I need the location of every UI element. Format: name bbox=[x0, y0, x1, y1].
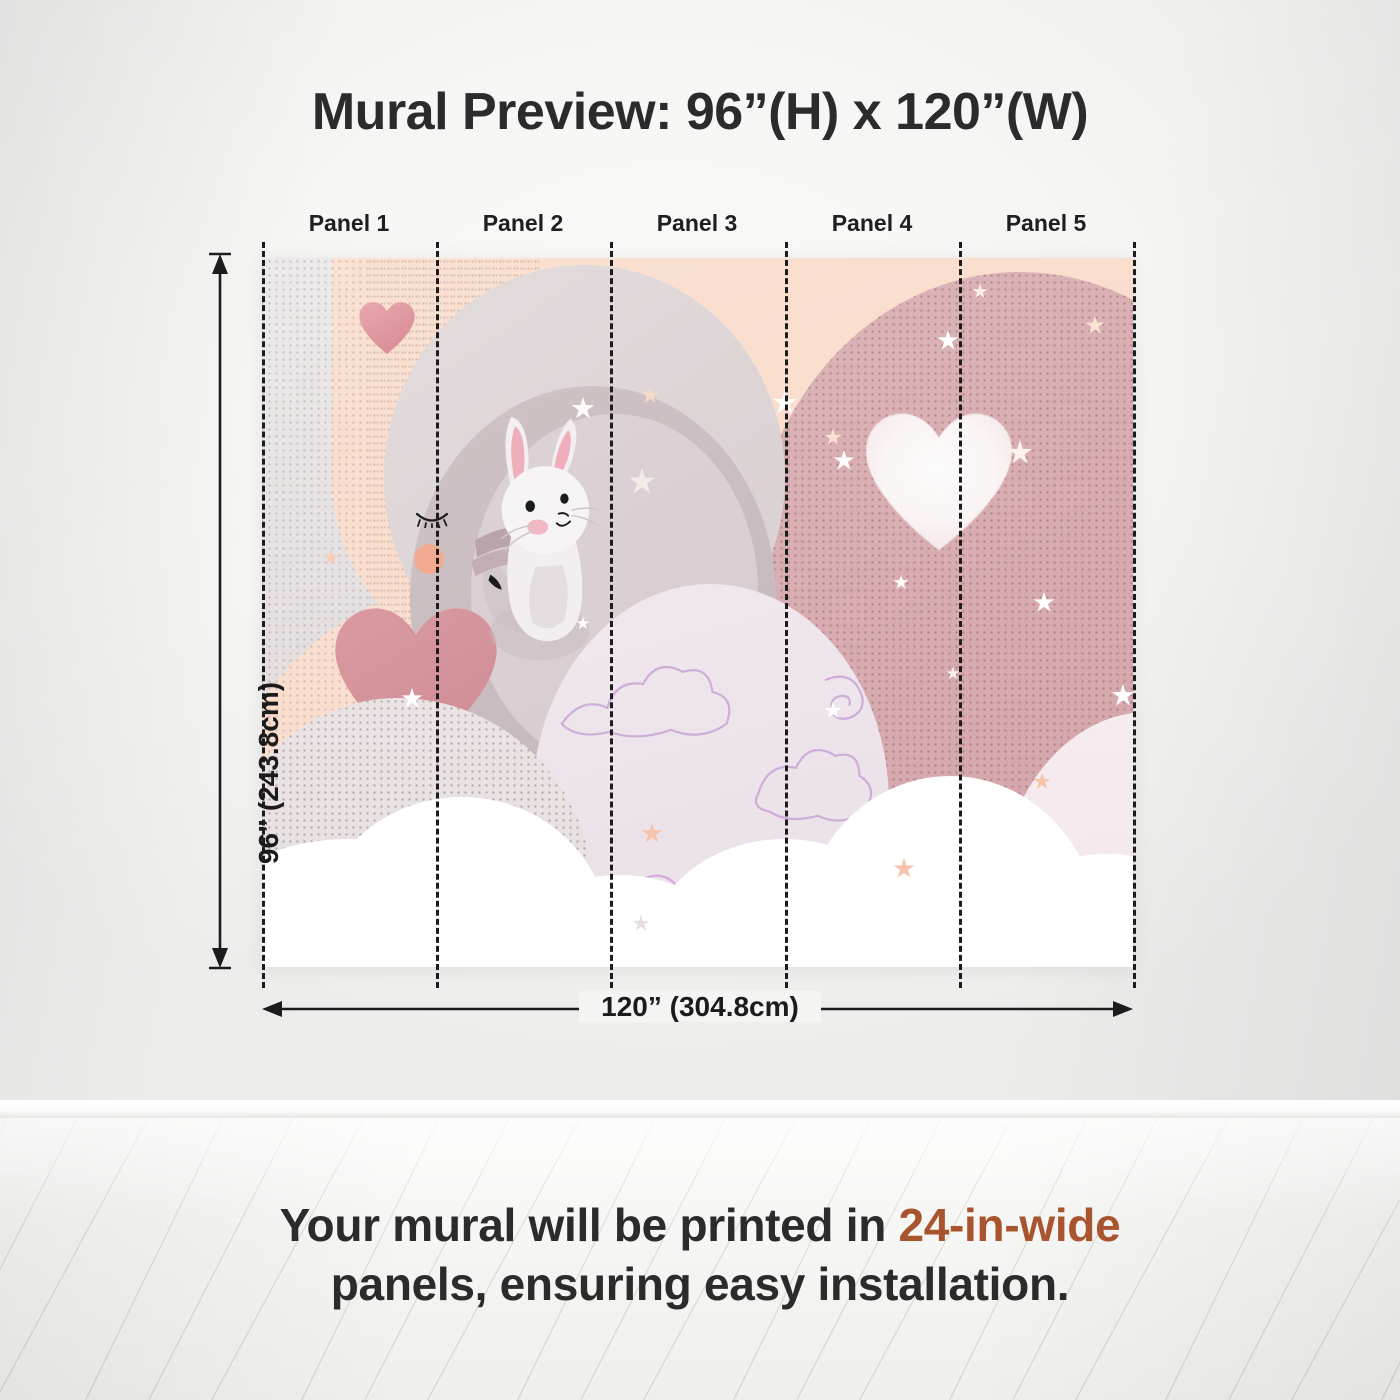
panel-divider-2 bbox=[610, 242, 613, 988]
artwork-star bbox=[571, 396, 595, 420]
artwork-star bbox=[1033, 772, 1051, 790]
panel-divider-3 bbox=[785, 242, 788, 988]
artwork-star bbox=[893, 574, 909, 590]
mural-preview-frame: Panel 1 Panel 2 Panel 3 Panel 4 Panel 5 bbox=[262, 258, 1133, 967]
artwork-star bbox=[576, 616, 590, 630]
artwork-star bbox=[972, 283, 988, 299]
artwork-pink-heart-small bbox=[358, 301, 416, 355]
panel-divider-4 bbox=[959, 242, 962, 988]
panel-divider-1 bbox=[436, 242, 439, 988]
artwork-star bbox=[893, 857, 915, 879]
width-dimension-text: 120” (304.8cm) bbox=[579, 991, 821, 1022]
artwork-star bbox=[1007, 439, 1033, 465]
caption: Your mural will be printed in 24-in-wide… bbox=[0, 1196, 1400, 1314]
artwork-star bbox=[1033, 591, 1055, 613]
artwork-star bbox=[641, 386, 659, 404]
height-dimension-label: 96” (243.8cm) bbox=[253, 623, 285, 923]
panel-label-2: Panel 2 bbox=[436, 210, 610, 237]
panel-label-1: Panel 1 bbox=[262, 210, 436, 237]
artwork-star bbox=[632, 914, 650, 932]
artwork-star bbox=[824, 701, 842, 719]
panel-divider-5 bbox=[1133, 242, 1136, 988]
artwork-white-heart bbox=[863, 410, 1015, 554]
artwork-star bbox=[824, 428, 842, 446]
artwork-moon-closed-eye bbox=[415, 510, 443, 526]
artwork-star bbox=[833, 449, 855, 471]
baseboard bbox=[0, 1100, 1400, 1118]
artwork-star bbox=[1111, 683, 1133, 707]
artwork-star bbox=[323, 549, 339, 565]
width-dimension-label: 120” (304.8cm) bbox=[0, 991, 1400, 1023]
panel-label-4: Panel 4 bbox=[785, 210, 959, 237]
caption-line2: panels, ensuring easy installation. bbox=[331, 1258, 1070, 1310]
mural-artwork bbox=[262, 258, 1133, 967]
artwork-star bbox=[401, 687, 423, 709]
caption-highlight: 24-in-wide bbox=[898, 1199, 1120, 1251]
page-title: Mural Preview: 96”(H) x 120”(W) bbox=[0, 82, 1400, 142]
artwork-moon-blush bbox=[414, 544, 444, 574]
panel-label-5: Panel 5 bbox=[959, 210, 1133, 237]
artwork-star bbox=[937, 329, 959, 351]
artwork-star bbox=[1085, 315, 1105, 335]
artwork-cloud-base bbox=[262, 924, 1133, 967]
artwork-star bbox=[628, 467, 656, 495]
caption-line1-prefix: Your mural will be printed in bbox=[280, 1199, 899, 1251]
artwork-star bbox=[946, 666, 960, 680]
artwork-star bbox=[641, 822, 663, 844]
panel-label-3: Panel 3 bbox=[610, 210, 784, 237]
height-dimension-arrow: 96” (243.8cm) bbox=[205, 252, 235, 970]
